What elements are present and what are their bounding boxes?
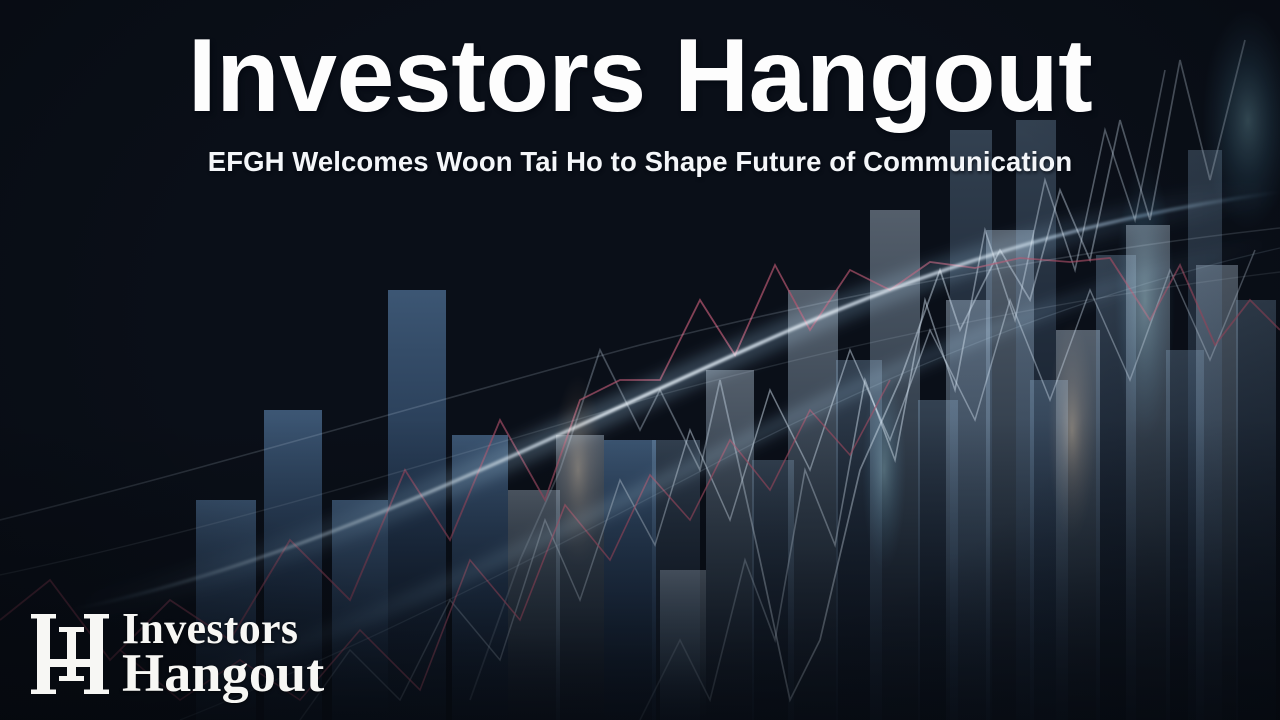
site-logo[interactable]: Investors Hangout [30, 606, 324, 702]
logo-wordmark: Investors Hangout [122, 609, 324, 699]
logo-line-hangout: Hangout [122, 649, 324, 699]
banner-root: Investors Hangout EFGH Welcomes Woon Tai… [0, 0, 1280, 720]
article-headline: EFGH Welcomes Woon Tai Ho to Shape Futur… [0, 146, 1280, 178]
page-title: Investors Hangout [0, 18, 1280, 134]
headline-block: Investors Hangout EFGH Welcomes Woon Tai… [0, 0, 1280, 178]
ih-monogram-icon [30, 606, 116, 702]
